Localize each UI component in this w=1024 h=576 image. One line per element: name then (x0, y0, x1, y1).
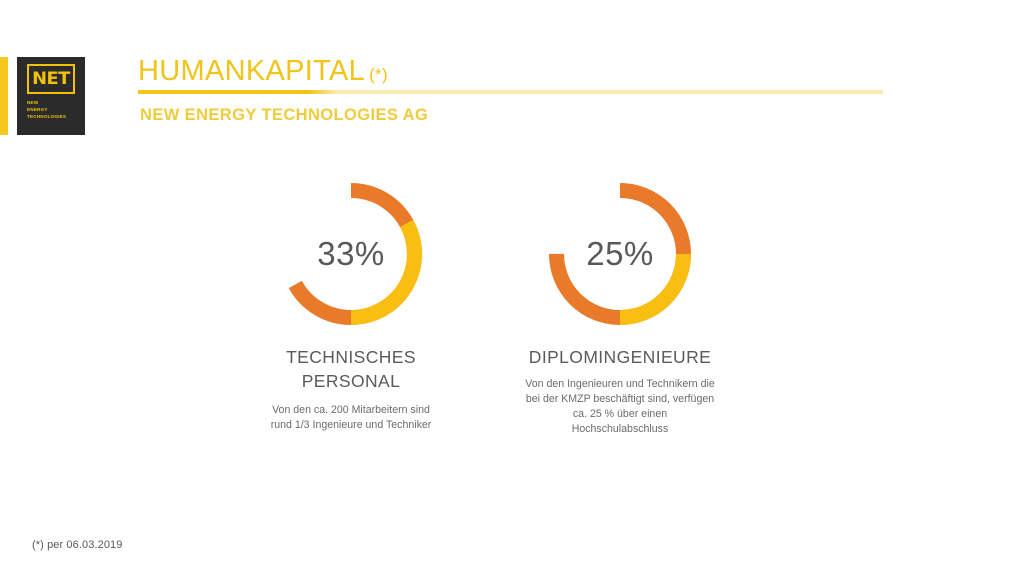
metric-card-diplomingenieure: 25% DIPLOMINGENIEURE Von den Ingenieuren… (495, 183, 745, 437)
metric-description-0: Von den ca. 200 Mitarbeitern sind rund 1… (261, 403, 441, 433)
metric-card-technisches-personal: 33% TECHNISCHES PERSONAL Von den ca. 200… (226, 183, 476, 433)
donut-chart-technisches-personal: 33% (280, 183, 422, 325)
metric-heading-1: DIPLOMINGENIEURE (500, 345, 740, 369)
metric-heading-0: TECHNISCHES PERSONAL (256, 345, 446, 393)
left-accent-bar (0, 57, 8, 135)
logo-tagline: NEWENERGYTECHNOLOGIES (27, 99, 75, 120)
page-subtitle: NEW ENERGY TECHNOLOGIES AG (140, 107, 428, 124)
title-underline-rule (138, 90, 883, 94)
donut-value-label-1: 25% (549, 183, 691, 325)
logo-mark-box: NET (27, 64, 75, 94)
footnote: (*) per 06.03.2019 (32, 540, 122, 551)
donut-value-label-0: 33% (280, 183, 422, 325)
metric-description-1: Von den Ingenieuren und Technikern die b… (525, 377, 715, 437)
logo-mark-text: NET (32, 71, 70, 88)
slide: NET NEWENERGYTECHNOLOGIES HUMANKAPITAL(*… (0, 0, 1024, 576)
donut-chart-diplomingenieure: 25% (549, 183, 691, 325)
page-title: HUMANKAPITAL(*) (138, 57, 388, 86)
page-title-text: HUMANKAPITAL (138, 55, 365, 87)
page-title-footnote-marker: (*) (369, 65, 388, 84)
company-logo: NET NEWENERGYTECHNOLOGIES (17, 57, 85, 135)
